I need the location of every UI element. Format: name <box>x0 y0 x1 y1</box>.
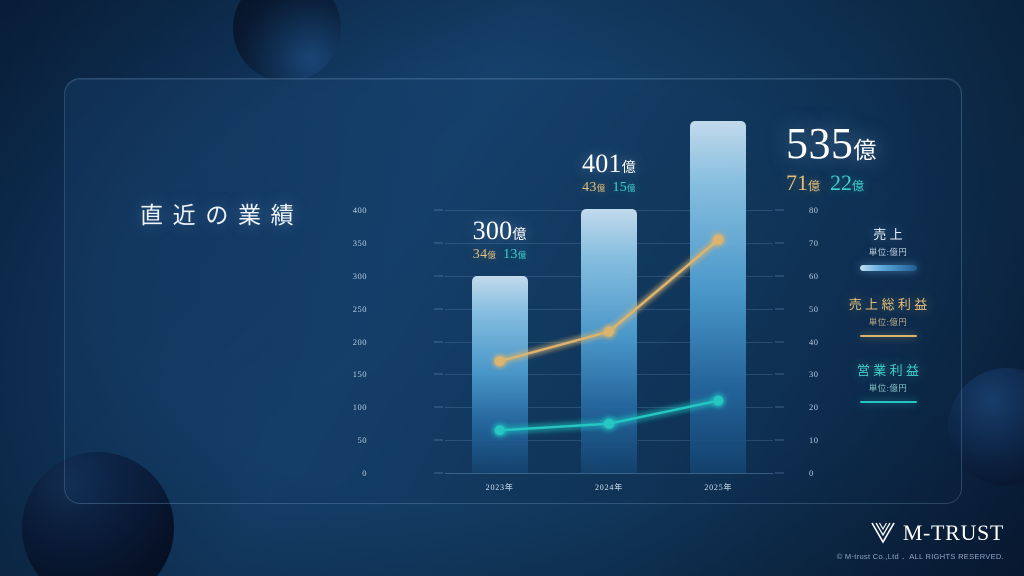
callout-2025-gross-unit: 億 <box>808 179 820 193</box>
callout-sales-value: 300 <box>473 216 513 245</box>
x-axis-tick: 2023年 <box>486 482 514 493</box>
y-axis-tick-mark <box>434 308 443 309</box>
y-axis-tick-right: 0 <box>809 468 849 478</box>
callout-2024: 401億43億15億 <box>582 149 636 196</box>
chart-axis-line <box>445 473 773 474</box>
legend-item-sales[interactable]: 売上 単位:億円 <box>818 224 958 271</box>
y-axis-tick-mark <box>775 473 784 474</box>
chart-line-marker[interactable]: 2024年 売上総利益 43億円 <box>604 327 614 337</box>
callout-2025-oper-unit: 億 <box>852 179 864 193</box>
brand-wordmark: M-TRUST <box>903 520 1004 546</box>
y-axis-tick-left: 250 <box>327 304 367 314</box>
callout-sales-value: 401 <box>582 149 622 178</box>
chart-line-marker[interactable]: 2023年 売上総利益 34億円 <box>495 356 505 366</box>
legend-item-gross-profit-unit: 単位:億円 <box>818 316 958 328</box>
callout-2023: 300億34億13億 <box>473 216 527 263</box>
y-axis-tick-right: 10 <box>809 435 849 445</box>
legend-item-operating-profit[interactable]: 営業利益 単位:億円 <box>818 360 958 403</box>
legend-item-operating-profit-unit: 単位:億円 <box>818 382 958 394</box>
y-axis-tick-mark <box>775 210 784 211</box>
callout-2025: 535億 71億22億 <box>786 122 877 196</box>
legend-item-gross-profit-label: 売上総利益 <box>818 294 958 313</box>
brand-mark: M-TRUST <box>837 520 1004 546</box>
y-axis-tick-mark <box>775 242 784 243</box>
chart-line-marker[interactable]: 2025年 営業利益 22億円 <box>713 396 723 406</box>
chart-line-marker[interactable]: 2024年 営業利益 15億円 <box>604 419 614 429</box>
y-axis-tick-left: 200 <box>327 337 367 347</box>
y-axis-tick-mark <box>434 473 443 474</box>
legend-item-gross-profit[interactable]: 売上総利益 単位:億円 <box>818 294 958 337</box>
y-axis-tick-mark <box>775 374 784 375</box>
callout-oper: 15億 <box>612 180 635 195</box>
y-axis-tick-mark <box>434 440 443 441</box>
y-axis-tick-right: 80 <box>809 205 849 215</box>
y-axis-tick-left: 350 <box>327 238 367 248</box>
callout-2025-oper: 22億 <box>830 170 864 195</box>
callout-2025-gross: 71億 <box>786 170 820 195</box>
legend-item-operating-profit-label: 営業利益 <box>818 360 958 379</box>
y-axis-tick-mark <box>434 275 443 276</box>
callout-sub: 43億15億 <box>582 180 636 196</box>
callout-sales-unit: 億 <box>512 228 526 243</box>
performance-chart: 4008035070300602505020040150301002050100… <box>415 196 815 486</box>
chart-line-gross-profit <box>500 240 719 362</box>
y-axis-tick-left: 0 <box>327 468 367 478</box>
callout-2025-sales-unit: 億 <box>853 138 876 163</box>
callout-gross-value: 34 <box>473 247 488 262</box>
callout-oper-value: 15 <box>612 180 627 195</box>
callout-sales: 300億 <box>473 216 527 246</box>
y-axis-tick-mark <box>434 341 443 342</box>
chart-legend: 売上 単位:億円 売上総利益 単位:億円 営業利益 単位:億円 <box>818 224 958 426</box>
y-axis-tick-left: 150 <box>327 369 367 379</box>
callout-sub: 34億13億 <box>473 247 527 263</box>
legend-item-sales-swatch <box>860 265 917 271</box>
y-axis-tick-mark <box>775 341 784 342</box>
callout-gross: 34億 <box>473 247 496 262</box>
y-axis-tick-mark <box>434 242 443 243</box>
y-axis-tick-left: 50 <box>327 435 367 445</box>
chart-line-marker[interactable]: 2025年 売上総利益 71億円 <box>713 235 723 245</box>
callout-2025-gross-value: 71 <box>786 170 808 195</box>
y-axis-tick-left: 100 <box>327 402 367 412</box>
legend-item-sales-unit: 単位:億円 <box>818 246 958 258</box>
callout-sales-unit: 億 <box>622 161 636 176</box>
callout-2025-oper-value: 22 <box>830 170 852 195</box>
y-axis-tick-mark <box>775 407 784 408</box>
y-axis-tick-mark <box>434 210 443 211</box>
x-axis-tick: 2024年 <box>595 482 623 493</box>
callout-2025-sub: 71億22億 <box>786 170 877 196</box>
y-axis-tick-mark <box>775 308 784 309</box>
y-axis-tick-mark <box>775 440 784 441</box>
callout-gross-unit: 億 <box>597 183 606 193</box>
legend-item-operating-profit-swatch <box>860 401 917 403</box>
y-axis-tick-mark <box>775 275 784 276</box>
chart-line-marker[interactable]: 2023年 営業利益 13億円 <box>495 425 505 435</box>
callout-oper-unit: 億 <box>518 250 527 260</box>
y-axis-tick-mark <box>434 407 443 408</box>
callout-oper-value: 13 <box>503 247 518 262</box>
x-axis-tick: 2025年 <box>704 482 732 493</box>
callout-gross-unit: 億 <box>487 250 496 260</box>
callout-gross-value: 43 <box>582 180 597 195</box>
callout-oper-unit: 億 <box>627 183 636 193</box>
callout-gross: 43億 <box>582 180 605 195</box>
callout-2025-sales: 535億 <box>786 122 877 166</box>
callout-sales: 401億 <box>582 149 636 179</box>
page-title: 直近の業績 <box>140 196 303 230</box>
copyright-text: © M-trust Co.,Ltd ．ALL RIGHTS RESERVED. <box>837 551 1004 562</box>
callout-2025-sales-value: 535 <box>786 119 853 168</box>
y-axis-tick-left: 300 <box>327 271 367 281</box>
callout-oper: 13億 <box>503 247 526 262</box>
legend-item-sales-label: 売上 <box>818 224 958 243</box>
footer-logo: M-TRUST © M-trust Co.,Ltd ．ALL RIGHTS RE… <box>837 520 1004 562</box>
y-axis-tick-mark <box>434 374 443 375</box>
legend-item-gross-profit-swatch <box>860 335 917 337</box>
m-trust-logo-icon <box>870 522 896 544</box>
y-axis-tick-left: 400 <box>327 205 367 215</box>
